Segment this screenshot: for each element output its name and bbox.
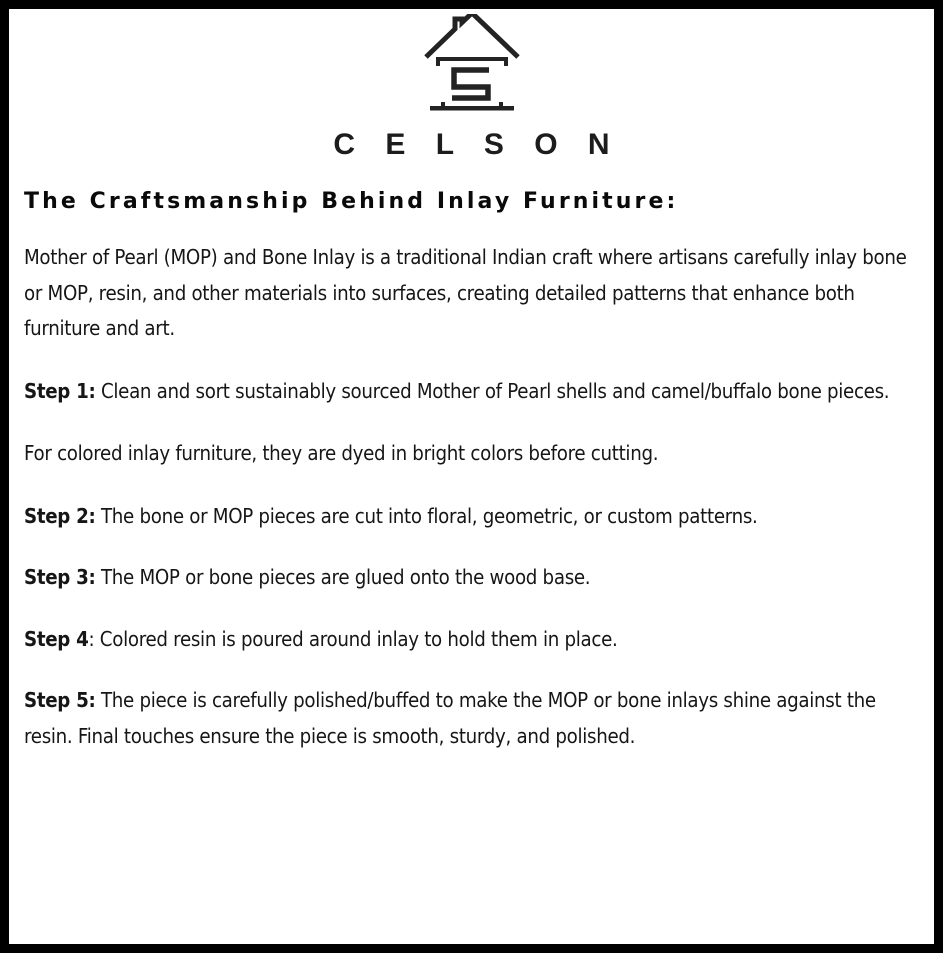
step-2-text: The bone or MOP pieces are cut into flor…: [95, 504, 757, 528]
poster-inner: C E L S O N The Craftsmanship Behind Inl…: [9, 9, 934, 944]
paragraph-step-2: Step 2: The bone or MOP pieces are cut i…: [24, 499, 909, 535]
paragraph-step-1: Step 1: Clean and sort sustainably sourc…: [24, 374, 909, 410]
step-5-label: Step 5:: [24, 688, 95, 712]
paragraph-step-5: Step 5: The piece is carefully polished/…: [24, 683, 909, 754]
step-5-text: The piece is carefully polished/buffed t…: [24, 688, 876, 748]
step-2-label: Step 2:: [24, 504, 95, 528]
paragraph-step-4: Step 4: Colored resin is poured around i…: [24, 622, 909, 658]
paragraph-step-3: Step 3: The MOP or bone pieces are glued…: [24, 560, 909, 596]
house-monogram-icon: [424, 14, 520, 112]
step-3-label: Step 3:: [24, 565, 95, 589]
poster-card: C E L S O N The Craftsmanship Behind Inl…: [0, 0, 943, 953]
paragraph-colored-inlay: For colored inlay furniture, they are dy…: [24, 436, 909, 472]
step-3-text: The MOP or bone pieces are glued onto th…: [95, 565, 590, 589]
step-4-text: : Colored resin is poured around inlay t…: [88, 627, 617, 651]
step-1-label: Step 1:: [24, 379, 95, 403]
brand-wordmark: C E L S O N: [16, 130, 927, 160]
article-body: Mother of Pearl (MOP) and Bone Inlay is …: [16, 240, 927, 754]
paragraph-intro: Mother of Pearl (MOP) and Bone Inlay is …: [24, 240, 909, 347]
step-4-label: Step 4: [24, 627, 88, 651]
step-1-text: Clean and sort sustainably sourced Mothe…: [95, 379, 889, 403]
page-title: The Craftsmanship Behind Inlay Furniture…: [16, 190, 927, 214]
brand-block: C E L S O N: [16, 9, 927, 160]
